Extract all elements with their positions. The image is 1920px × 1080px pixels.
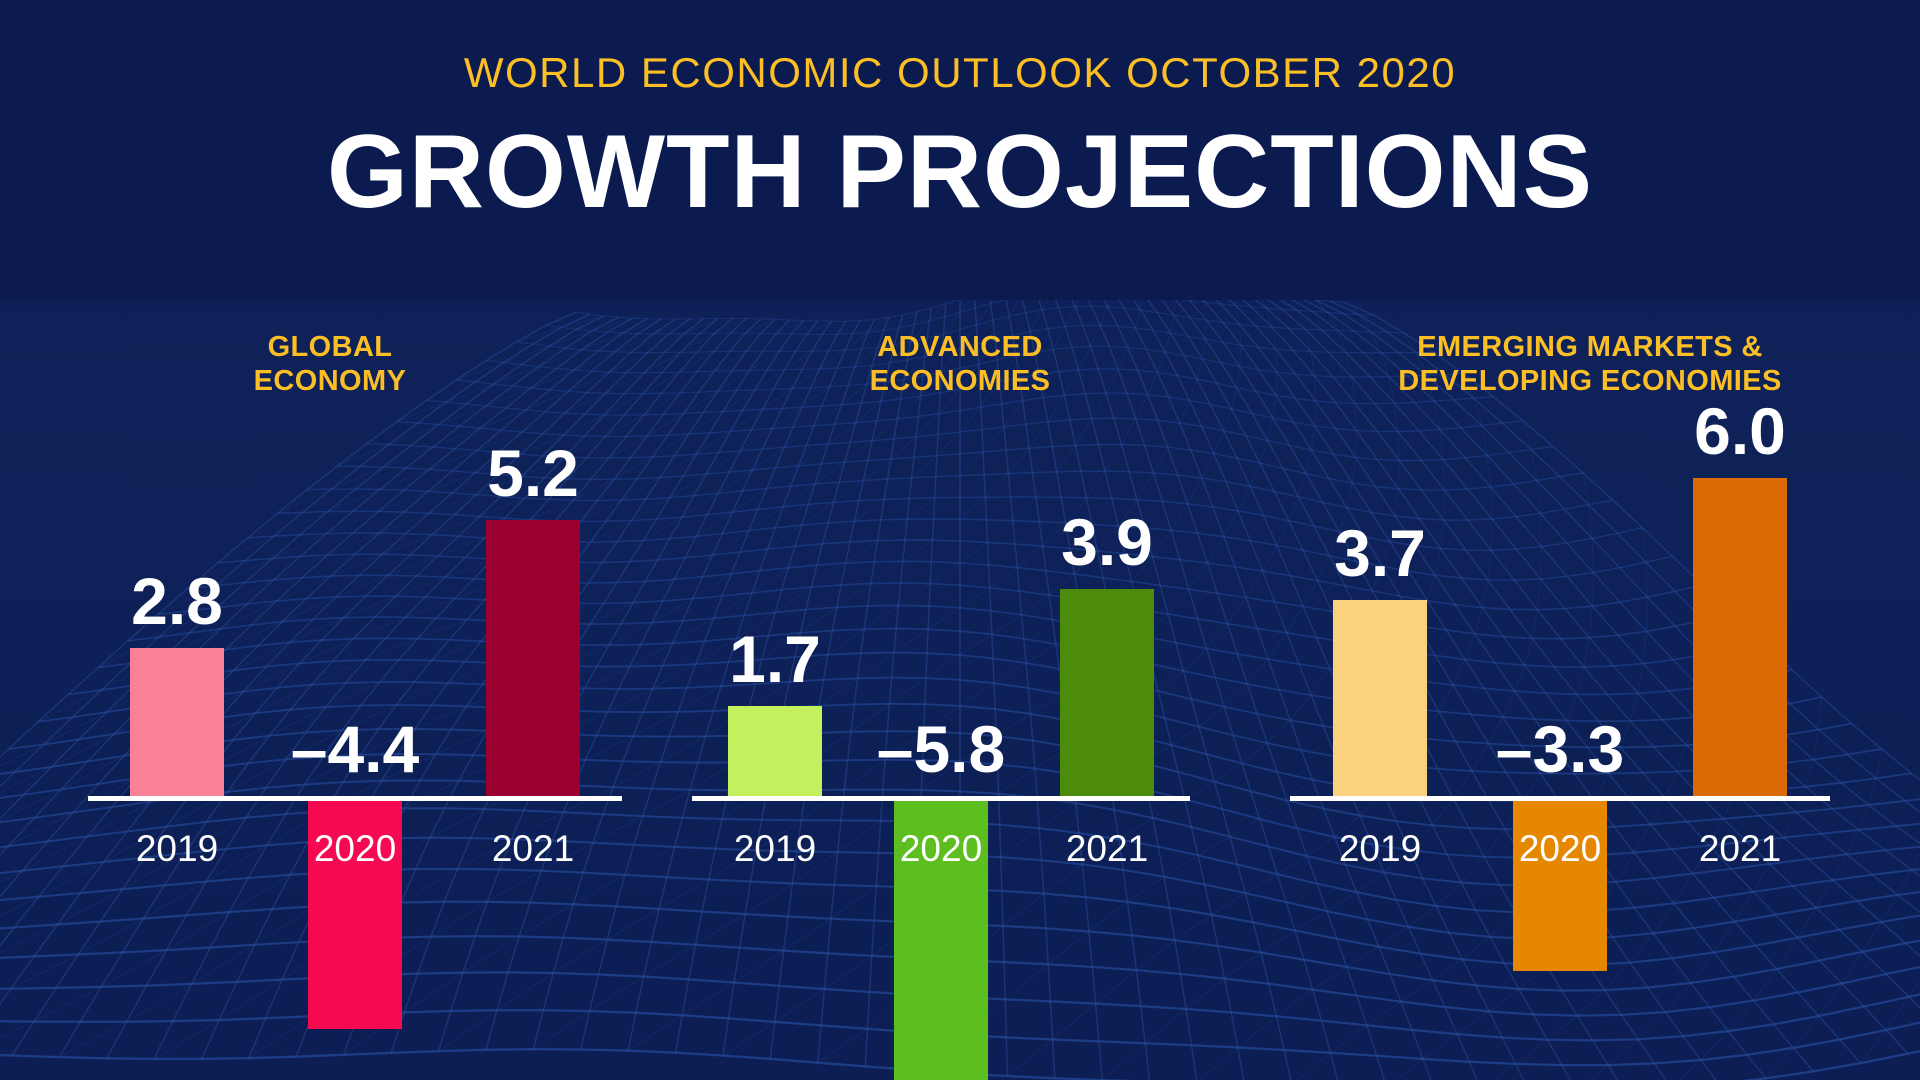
bar-value-label-2020: –3.3 [1450,716,1670,782]
bar-year-label-2020: 2020 [265,830,445,867]
chart-panel-3: EMERGING MARKETS &DEVELOPING ECONOMIES3.… [1260,330,1920,1030]
chart-panel-1: GLOBALECONOMY2.82019–4.420205.22021 [0,330,660,1030]
bar-2021 [1693,478,1787,796]
bar-2021 [486,520,580,796]
bar-value-label-2019: 2.8 [67,568,287,634]
panel-title-line: ECONOMIES [660,364,1260,398]
panel-title-line: ECONOMY [0,364,660,398]
infographic-root: WORLD ECONOMIC OUTLOOK OCTOBER 2020 GROW… [0,0,1920,1080]
bar-value-label-2021: 5.2 [423,440,643,506]
bar-value-label-2021: 6.0 [1630,398,1850,464]
eyebrow-title: WORLD ECONOMIC OUTLOOK OCTOBER 2020 [0,52,1920,94]
bar-value-label-2019: 3.7 [1270,520,1490,586]
bar-year-label-2020: 2020 [1470,830,1650,867]
chart-panel-2: ADVANCEDECONOMIES1.72019–5.820203.92021 [660,330,1260,1030]
bar-year-label-2021: 2021 [1650,830,1830,867]
panel-title: ADVANCEDECONOMIES [660,330,1260,398]
bar-year-label-2019: 2019 [87,830,267,867]
page-title: GROWTH PROJECTIONS [0,120,1920,224]
bar-2020 [1513,796,1607,971]
panel-title-line: ADVANCED [660,330,1260,364]
zero-axis-line [1290,796,1830,801]
bar-2019 [130,648,224,796]
bar-year-label-2019: 2019 [1290,830,1470,867]
panel-title-line: DEVELOPING ECONOMIES [1260,364,1920,398]
panel-title: GLOBALECONOMY [0,330,660,398]
panel-title-line: EMERGING MARKETS & [1260,330,1920,364]
bar-year-label-2019: 2019 [685,830,865,867]
bar-value-label-2020: –4.4 [245,716,465,782]
chart-panels: GLOBALECONOMY2.82019–4.420205.22021ADVAN… [0,330,1920,1030]
bar-value-label-2021: 3.9 [997,509,1217,575]
bar-2019 [728,706,822,796]
bar-2019 [1333,600,1427,796]
bar-year-label-2021: 2021 [443,830,623,867]
panel-title-line: GLOBAL [0,330,660,364]
bar-2021 [1060,589,1154,796]
zero-axis-line [88,796,622,801]
bar-year-label-2020: 2020 [851,830,1031,867]
header: WORLD ECONOMIC OUTLOOK OCTOBER 2020 GROW… [0,0,1920,224]
bar-year-label-2021: 2021 [1017,830,1197,867]
zero-axis-line [692,796,1190,801]
bar-value-label-2020: –5.8 [831,716,1051,782]
bar-value-label-2019: 1.7 [665,626,885,692]
panel-title: EMERGING MARKETS &DEVELOPING ECONOMIES [1260,330,1920,398]
